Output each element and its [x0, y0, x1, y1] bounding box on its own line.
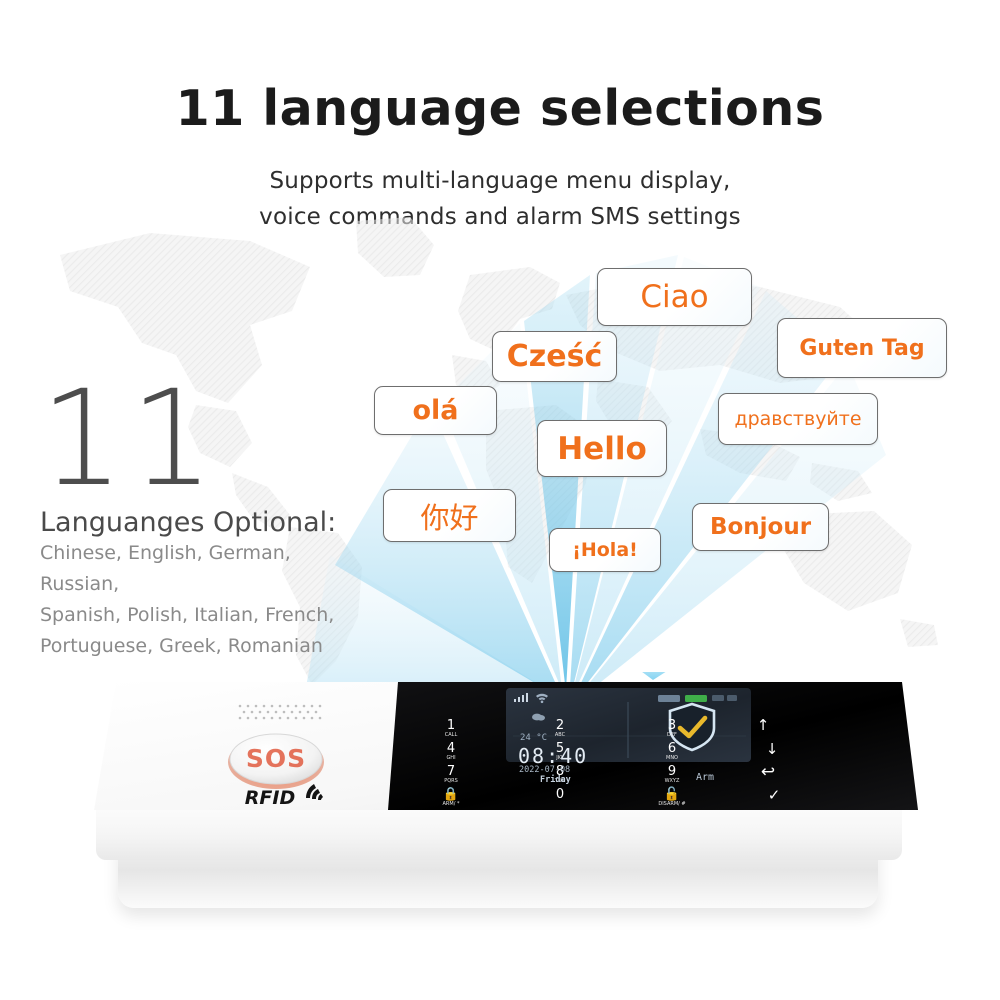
keypad-key-sublabel: PQRS [444, 778, 458, 784]
keypad-key-sublabel: ABC [555, 732, 566, 738]
speech-bubble: Ciao [597, 268, 752, 326]
status-chip-a [712, 695, 724, 701]
lcd-arm-label: Arm [666, 772, 744, 783]
sos-button-label: SOS [246, 744, 306, 773]
status-chip-arm [658, 695, 680, 702]
arrow-up-icon[interactable]: ↑ [757, 716, 770, 734]
speech-bubble: olá [374, 386, 497, 435]
keypad-key-digit[interactable]: 0 [556, 787, 564, 802]
language-list-line-2: Spanish, Polish, Italian, French, [40, 600, 370, 631]
speech-bubble: 你好 [383, 489, 516, 542]
lcd-date: 2022-07-08 [519, 765, 570, 775]
poster-canvas: 11 language selections Supports multi-la… [0, 0, 1000, 1000]
speech-bubble: дравствуйте [718, 393, 878, 445]
speech-bubble: Guten Tag [777, 318, 947, 378]
keypad-key-digit[interactable]: 🔒 [443, 787, 459, 802]
keypad-key-digit[interactable]: 3 [668, 718, 676, 733]
page-subtitle-line-1: Supports multi-language menu display, [0, 168, 1000, 194]
keypad-key-sublabel: CALL [445, 732, 458, 738]
language-list-line-1: Chinese, English, German, Russian, [40, 538, 370, 600]
shield-check-icon [670, 704, 714, 750]
confirm-check-icon[interactable]: ✓ [768, 786, 781, 804]
keypad-key-digit[interactable]: 🔓 [664, 786, 680, 802]
rfid-label: RFID [245, 787, 295, 809]
speech-bubble: Cześć [492, 331, 617, 382]
speech-bubble: ¡Hola! [549, 528, 661, 572]
keypad-key-sublabel: DEF [667, 732, 677, 738]
keypad-key-digit[interactable]: 2 [556, 718, 564, 733]
language-count-block: 11 Languanges Optional: Chinese, English… [40, 385, 370, 662]
speech-bubble: Hello [537, 420, 667, 477]
keypad-key-sublabel: MNO [666, 755, 678, 761]
language-optional-label: Languanges Optional: [40, 507, 370, 538]
keypad-key-sublabel: ARM/ * [443, 801, 460, 807]
speech-bubble: Bonjour [692, 503, 829, 551]
arrow-down-icon[interactable]: ↓ [766, 740, 779, 758]
status-chip-armed [685, 695, 707, 702]
keypad-key-digit[interactable]: 4 [447, 741, 455, 756]
keypad-key-sublabel: GHI [446, 755, 455, 761]
alarm-panel-device: SOS RFID [88, 672, 918, 917]
back-arrow-icon[interactable]: ↩ [761, 762, 775, 782]
keypad-key-digit[interactable]: 6 [668, 741, 676, 756]
page-title: 11 language selections [0, 80, 1000, 137]
keypad-key-digit[interactable]: 1 [447, 718, 455, 733]
lcd-weekday: Friday [540, 775, 571, 785]
device-top-face: SOS RFID [88, 672, 918, 822]
language-count-number: 11 [40, 385, 370, 493]
lcd-temperature: 24 °C [520, 733, 547, 743]
language-list-line-3: Portuguese, Greek, Romanian [40, 631, 370, 662]
keypad-key-sublabel: DISARM/ # [658, 801, 685, 807]
keypad-key-digit[interactable]: 7 [447, 764, 455, 779]
status-chip-b [727, 695, 737, 701]
